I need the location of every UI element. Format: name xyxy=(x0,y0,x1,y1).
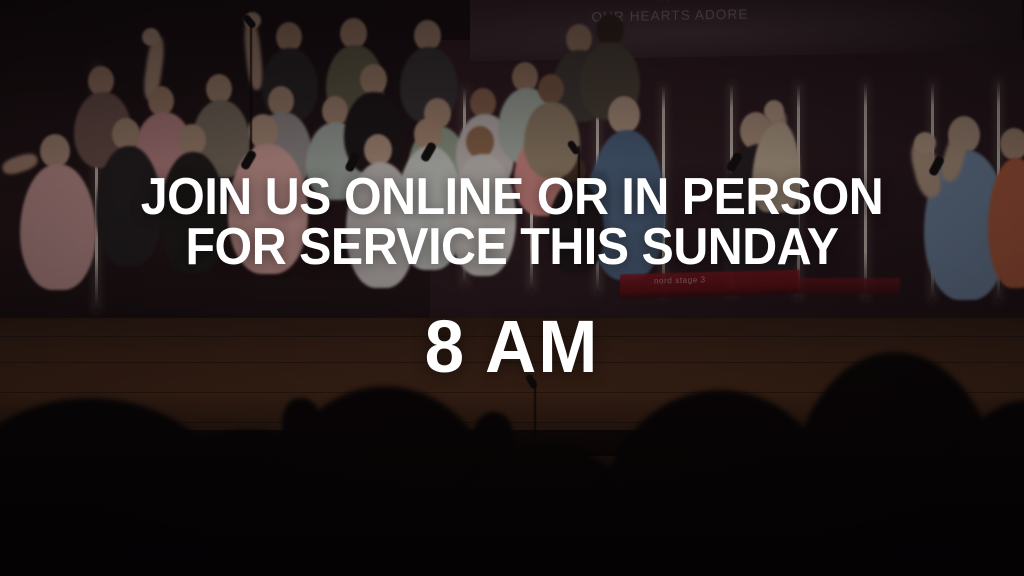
service-time: 8 AM xyxy=(20,308,1003,386)
headline-line-2: FOR SERVICE THIS SUNDAY xyxy=(36,222,988,272)
promotional-graphic: YOU OUR HEARTS ADORE xyxy=(0,0,1024,576)
text-overlay: JOIN US ONLINE OR IN PERSON FOR SERVICE … xyxy=(0,0,1024,576)
headline: JOIN US ONLINE OR IN PERSON FOR SERVICE … xyxy=(36,172,988,272)
